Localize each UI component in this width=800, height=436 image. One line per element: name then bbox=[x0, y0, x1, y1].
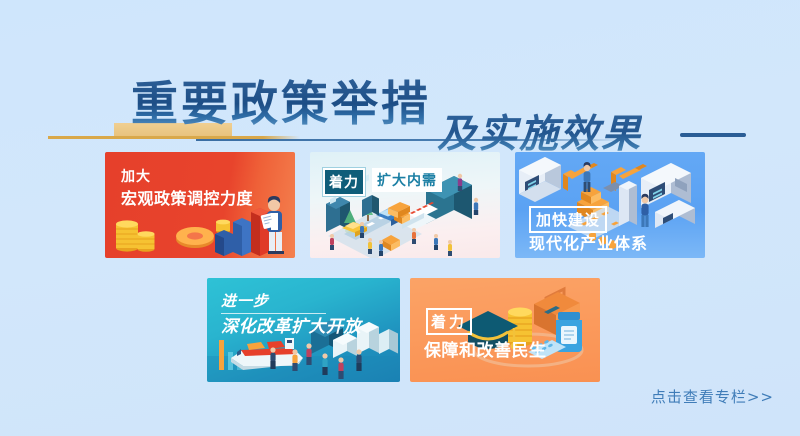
card-line2: 宏观政策调控力度 bbox=[121, 185, 253, 209]
card-line1: 进一步 bbox=[221, 290, 269, 311]
policy-card-expand-demand[interactable]: 着力 扩大内需 bbox=[310, 152, 500, 258]
card-line1: 着力 bbox=[323, 168, 365, 196]
card-line1: 着力 bbox=[426, 308, 472, 335]
poster-stage: 重要政策举措 及实施效果 bbox=[0, 0, 800, 436]
title-blue-rule-right bbox=[680, 133, 746, 137]
card-line2: 保障和改善民生 bbox=[424, 336, 547, 361]
page-title-block: 重要政策举措 及实施效果 bbox=[0, 36, 800, 126]
policy-card-livelihood[interactable]: 着力 保障和改善民生 bbox=[410, 278, 600, 382]
card-line2: 现代化产业体系 bbox=[529, 230, 648, 254]
policy-card-macro-control[interactable]: 加大 宏观政策调控力度 bbox=[105, 152, 295, 258]
view-column-link[interactable]: 点击查看专栏>> bbox=[651, 386, 774, 407]
title-gold-rule-left bbox=[48, 136, 116, 139]
card-line1: 加大 bbox=[121, 166, 151, 186]
card-line1: 加快建设 bbox=[529, 206, 607, 233]
card-line2: 深化改革扩大开放 bbox=[221, 312, 361, 337]
page-title: 重要政策举措 bbox=[131, 77, 431, 133]
policy-card-modern-industry[interactable]: 加快建设 现代化产业体系 bbox=[515, 152, 705, 258]
policy-card-reform-opening[interactable]: 进一步 深化改革扩大开放 bbox=[207, 278, 400, 382]
card-line2: 扩大内需 bbox=[372, 168, 442, 192]
